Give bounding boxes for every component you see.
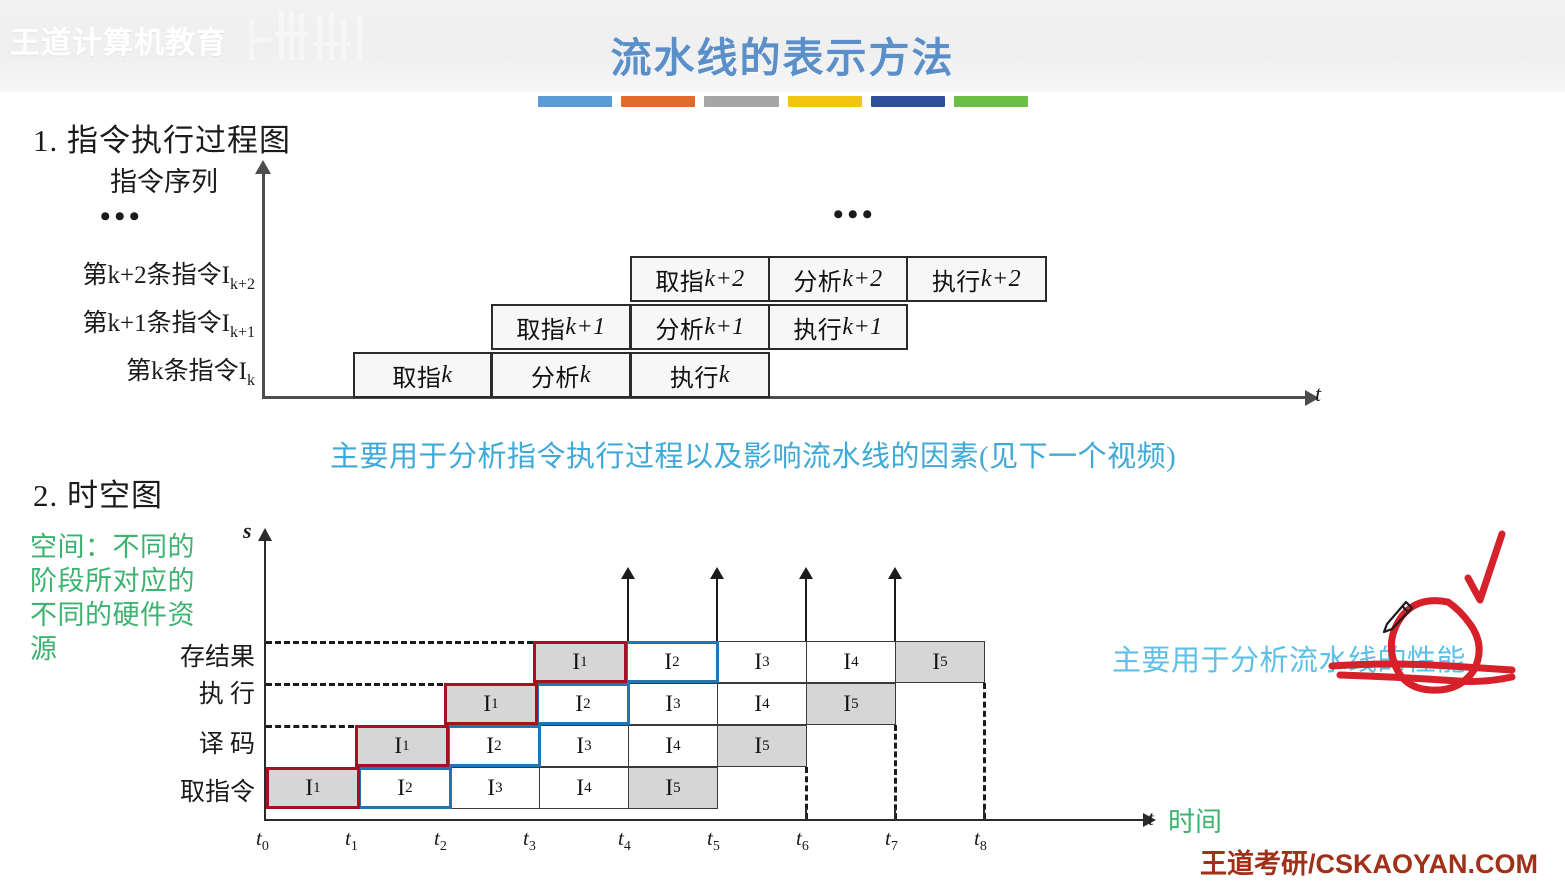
row-label-k-plus-2: 第k+2条指令Ik+2 — [10, 255, 255, 294]
row-label-k-plus-1: 第k+1条指令Ik+1 — [10, 303, 255, 342]
d2-cell-store-I2: I2 — [625, 641, 719, 683]
d2-cell-fetch-I4: I4 — [539, 767, 629, 809]
throughput-arrow-t5 — [716, 578, 718, 641]
diagram2-y-axis-arrow-icon — [258, 528, 272, 541]
dash-vertical-t7 — [894, 725, 897, 819]
accent-bar-2 — [621, 96, 695, 107]
xtick-label-t1: t1 — [345, 826, 358, 855]
dash-vertical-t8 — [983, 683, 986, 819]
d2-cell-decode-I5: I5 — [717, 725, 807, 767]
d2-cell-exec-I3: I3 — [628, 683, 718, 725]
section2-note: 主要用于分析流水线的性能 — [1112, 637, 1466, 679]
d1-cell-r0-c1: 分析k+2 — [768, 256, 908, 302]
diagram2-y-axis-label: s — [243, 518, 252, 544]
ellipsis-left: ••• — [100, 200, 144, 234]
accent-bar-5 — [871, 96, 945, 107]
d2-cell-exec-I2: I2 — [536, 683, 630, 725]
throughput-arrow-t6 — [805, 578, 807, 641]
diagram1-y-axis — [262, 170, 265, 398]
throughput-arrow-t4 — [627, 578, 629, 641]
pen-cursor-icon — [1376, 596, 1418, 638]
xtick-mark-t7 — [894, 808, 896, 820]
xtick-label-t3: t3 — [523, 826, 536, 855]
accent-bar-6 — [954, 96, 1028, 107]
accent-bar-4 — [788, 96, 862, 107]
accent-bar-3 — [704, 96, 778, 107]
guide-dash-store-result — [266, 641, 533, 644]
page-title: 流水线的表示方法 — [0, 24, 1565, 84]
xtick-label-t7: t7 — [885, 826, 898, 855]
d1-cell-r2-c0: 取指k — [353, 352, 492, 398]
stage-label-store-result: 存结果 — [150, 637, 255, 673]
diagram2-x-axis — [264, 819, 1149, 821]
stage-label-fetch: 取指令 — [150, 772, 255, 808]
throughput-arrow-t7 — [894, 578, 896, 641]
d2-cell-decode-I4: I4 — [628, 725, 718, 767]
xtick-label-t4: t4 — [618, 826, 631, 855]
title-accent-bars — [538, 96, 1028, 108]
check-mark-icon — [1468, 534, 1502, 600]
xtick-label-t6: t6 — [796, 826, 809, 855]
d1-cell-r1-c2: 执行k+1 — [768, 304, 908, 350]
diagram1-y-axis-arrow-icon — [255, 160, 271, 174]
xtick-label-t0: t0 — [256, 826, 269, 855]
section2-heading: 2. 时空图 — [33, 470, 163, 515]
section1-note: 主要用于分析指令执行过程以及影响流水线的因素(见下一个视频) — [330, 433, 1176, 475]
stage-label-execute: 执 行 — [150, 674, 255, 710]
d2-cell-decode-I3: I3 — [539, 725, 629, 767]
guide-dash-execute — [266, 683, 443, 686]
time-axis-caption: 时间 — [1168, 800, 1222, 839]
d2-cell-store-I3: I3 — [717, 641, 807, 683]
d1-cell-r1-c0: 取指k+1 — [491, 304, 631, 350]
diagram1-x-axis-label: t — [1315, 381, 1321, 407]
xtick-mark-t6 — [805, 808, 807, 820]
section1-heading: 1. 指令执行过程图 — [33, 115, 291, 160]
guide-dash-decode — [266, 725, 354, 728]
d2-cell-fetch-I3: I3 — [450, 767, 540, 809]
xtick-label-t2: t2 — [434, 826, 447, 855]
stage-label-decode: 译 码 — [150, 724, 255, 760]
d2-cell-store-I5: I5 — [895, 641, 985, 683]
d1-cell-r2-c2: 执行k — [630, 352, 770, 398]
diagram2-x-axis-label: t — [1148, 806, 1154, 831]
d1-cell-r0-c0: 取指k+2 — [630, 256, 770, 302]
d1-cell-r0-c2: 执行k+2 — [906, 256, 1047, 302]
d2-cell-exec-I5: I5 — [806, 683, 896, 725]
d2-cell-exec-I1: I1 — [444, 683, 538, 725]
d1-cell-r2-c1: 分析k — [491, 352, 631, 398]
d2-cell-decode-I2: I2 — [447, 725, 541, 767]
d2-cell-fetch-I1: I1 — [266, 767, 360, 809]
d2-cell-exec-I4: I4 — [717, 683, 807, 725]
d2-cell-fetch-I2: I2 — [358, 767, 452, 809]
d1-cell-r1-c1: 分析k+1 — [630, 304, 770, 350]
accent-bar-1 — [538, 96, 612, 107]
d2-cell-store-I4: I4 — [806, 641, 896, 683]
xtick-mark-t8 — [983, 808, 985, 820]
xtick-label-t8: t8 — [974, 826, 987, 855]
red-ink-annotation — [1180, 520, 1565, 720]
d2-cell-fetch-I5: I5 — [628, 767, 718, 809]
d2-cell-store-I1: I1 — [533, 641, 627, 683]
ellipsis-middle: ••• — [833, 198, 877, 232]
row-label-k: 第k条指令Ik — [10, 351, 255, 390]
instruction-sequence-axis-label: 指令序列 — [110, 160, 218, 199]
d2-cell-decode-I1: I1 — [355, 725, 449, 767]
site-watermark: 王道考研/CSKAOYAN.COM — [1200, 842, 1538, 881]
xtick-label-t5: t5 — [707, 826, 720, 855]
